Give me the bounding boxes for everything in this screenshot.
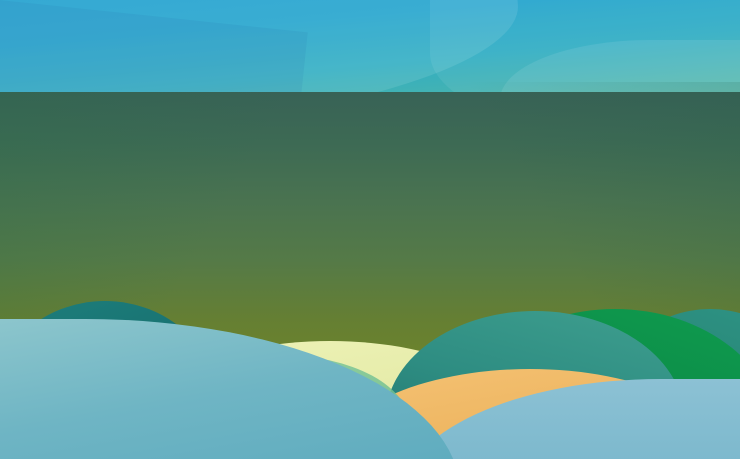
water-ripple-lines	[0, 319, 500, 459]
green-field-background	[0, 92, 740, 459]
sky-background	[0, 0, 740, 92]
banner-image	[0, 0, 740, 459]
